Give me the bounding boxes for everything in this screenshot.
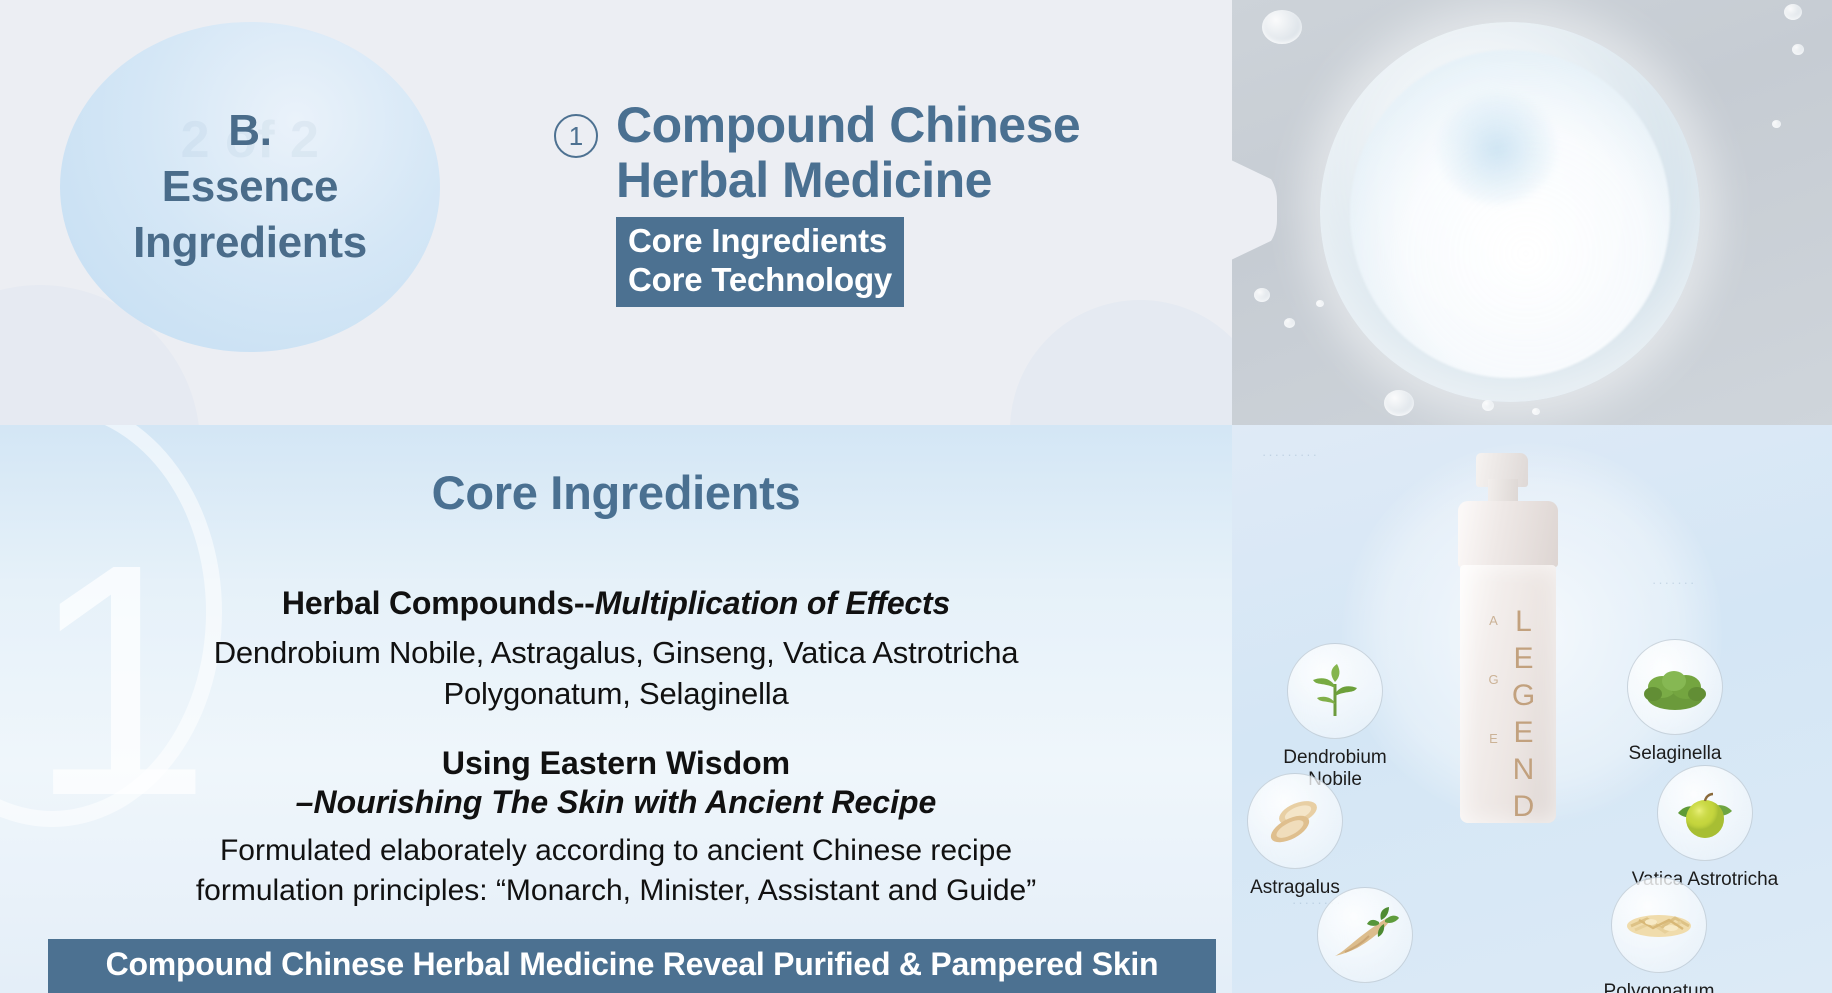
circled-number-icon: 1 bbox=[554, 114, 598, 158]
product-bottle: AGE LEGEND bbox=[1454, 453, 1562, 823]
heading-line-1: Compound Chinese bbox=[616, 98, 1080, 153]
herbal-compounds-heading: Herbal Compounds--Multiplication of Effe… bbox=[0, 585, 1232, 622]
ingredient-label: Selaginella bbox=[1600, 743, 1750, 765]
water-droplet-icon bbox=[1284, 318, 1295, 328]
bubble-label-line-2: Essence bbox=[133, 159, 367, 215]
dried-shreds-glyph bbox=[1621, 902, 1697, 948]
core-ingredients-banner: Compound Chinese Herbal Medicine Reveal … bbox=[48, 939, 1216, 993]
eastern-wisdom-line-1: Using Eastern Wisdom bbox=[0, 745, 1232, 782]
herbal-compounds-heading-bold: Herbal Compounds-- bbox=[282, 585, 595, 621]
moss-icon bbox=[1627, 639, 1723, 735]
dried-shreds-icon bbox=[1611, 877, 1707, 973]
decorative-circle bbox=[1010, 300, 1270, 425]
water-droplet-icon bbox=[1316, 300, 1324, 307]
product-photo: ········· ······· ········ AGE LEGEND bbox=[1232, 425, 1832, 993]
ingredient-callout: Ginseng bbox=[1290, 887, 1440, 993]
ingredient-callout: Vatica Astrotricha bbox=[1630, 765, 1780, 891]
bottom-section: 1 Core Ingredients Compound Chinese Herb… bbox=[0, 425, 1832, 993]
water-droplet-icon bbox=[1384, 390, 1414, 416]
photo-notch bbox=[1232, 160, 1277, 260]
ginseng-root-glyph bbox=[1329, 904, 1401, 966]
bubble-label-line-1: B. bbox=[133, 103, 367, 159]
core-tag-badge: Core Ingredients Core Technology bbox=[616, 217, 904, 307]
eastern-wisdom-line-4: formulation principles: “Monarch, Minist… bbox=[0, 871, 1232, 911]
core-tag-line-2: Core Technology bbox=[628, 260, 892, 299]
water-droplet-icon bbox=[1262, 10, 1302, 44]
gel-drop-icon bbox=[1320, 22, 1700, 402]
background-script-texture: ······· bbox=[1652, 575, 1696, 590]
bottle-cap bbox=[1458, 501, 1558, 567]
water-droplet-icon bbox=[1482, 400, 1494, 411]
eastern-wisdom-line-3: Formulated elaborately according to anci… bbox=[0, 831, 1232, 871]
top-section: 2 of 2 B. Essence Ingredients 1 Compound… bbox=[0, 0, 1832, 425]
heading-line-2: Herbal Medicine bbox=[616, 153, 1080, 208]
green-fruit-glyph bbox=[1672, 783, 1738, 843]
herbal-list-line-1: Dendrobium Nobile, Astragalus, Ginseng, … bbox=[0, 632, 1232, 673]
eastern-wisdom-line-2: –Nourishing The Skin with Ancient Recipe bbox=[0, 784, 1232, 821]
essence-ingredients-bubble: 2 of 2 B. Essence Ingredients bbox=[60, 22, 440, 352]
water-droplet-icon bbox=[1792, 44, 1804, 55]
bottle-brand-name: LEGEND bbox=[1506, 605, 1540, 827]
ingredient-callout: Selaginella bbox=[1600, 639, 1750, 765]
water-droplet-icon bbox=[1532, 408, 1540, 415]
gel-drop-highlight bbox=[1438, 94, 1556, 204]
eastern-wisdom-block: Using Eastern Wisdom –Nourishing The Ski… bbox=[0, 745, 1232, 911]
herbal-compounds-heading-italic: Multiplication of Effects bbox=[595, 585, 950, 621]
bottle-body: AGE LEGEND bbox=[1460, 565, 1556, 823]
ingredient-callout: Polygonatum bbox=[1584, 877, 1734, 993]
root-slices-glyph bbox=[1260, 793, 1330, 849]
core-tag-line-1: Core Ingredients bbox=[628, 221, 892, 260]
root-slices-icon bbox=[1247, 773, 1343, 869]
ingredient-callout: Dendrobium Nobile bbox=[1260, 643, 1410, 791]
sprout-icon bbox=[1287, 643, 1383, 739]
gel-droplet-photo bbox=[1232, 0, 1832, 425]
heading-text: Compound Chinese Herbal Medicine bbox=[616, 98, 1080, 207]
water-droplet-icon bbox=[1772, 120, 1781, 128]
core-ingredients-title: Core Ingredients bbox=[0, 465, 1232, 520]
water-droplet-icon bbox=[1254, 288, 1270, 302]
ginseng-root-icon bbox=[1317, 887, 1413, 983]
bubble-label-line-3: Ingredients bbox=[133, 215, 367, 271]
herbal-compounds-block: Herbal Compounds--Multiplication of Effe… bbox=[0, 585, 1232, 714]
bubble-label: B. Essence Ingredients bbox=[133, 103, 367, 271]
ingredient-label: Polygonatum bbox=[1584, 981, 1734, 993]
bottle-brand-sub: AGE bbox=[1486, 613, 1501, 790]
ingredient-callout: Astragalus bbox=[1232, 773, 1370, 899]
herbal-list-line-2: Polygonatum, Selaginella bbox=[0, 673, 1232, 714]
green-fruit-icon bbox=[1657, 765, 1753, 861]
section-heading: 1 Compound Chinese Herbal Medicine Core … bbox=[554, 98, 1194, 307]
moss-glyph bbox=[1640, 663, 1710, 711]
sprout-glyph bbox=[1303, 662, 1367, 720]
water-droplet-icon bbox=[1784, 4, 1802, 20]
heading-row: 1 Compound Chinese Herbal Medicine bbox=[554, 98, 1194, 207]
background-script-texture: ········· bbox=[1262, 447, 1319, 462]
slide: 2 of 2 B. Essence Ingredients 1 Compound… bbox=[0, 0, 1832, 993]
